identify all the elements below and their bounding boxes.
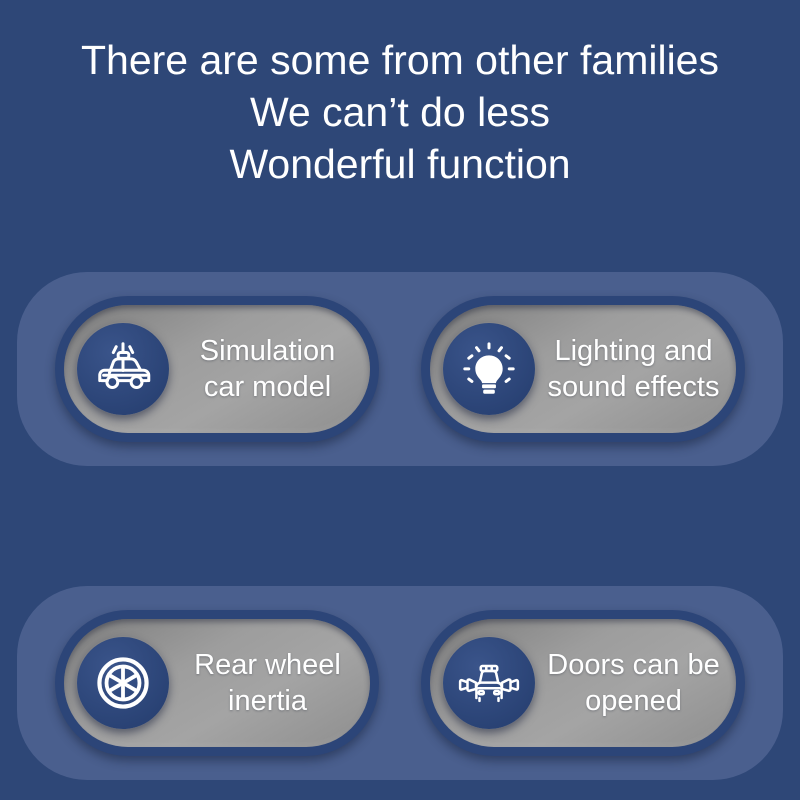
car-doors-open-icon [443, 637, 535, 729]
feature-row-top: Simulation car model [17, 272, 783, 466]
page-title: There are some from other families We ca… [0, 34, 800, 190]
wheel-tire-icon [77, 637, 169, 729]
feature-card-doors-can-be-opened[interactable]: Doors can be opened [421, 610, 745, 756]
feature-card-label: Simulation car model [169, 333, 370, 405]
police-car-icon [77, 323, 169, 415]
product-feature-poster: There are some from other families We ca… [0, 0, 800, 800]
feature-card-rear-wheel-inertia[interactable]: Rear wheel inertia [55, 610, 379, 756]
feature-card-label: Rear wheel inertia [169, 647, 370, 719]
feature-card-label: Doors can be opened [535, 647, 736, 719]
feature-card-simulation-car-model[interactable]: Simulation car model [55, 296, 379, 442]
page-title-line-3: Wonderful function [0, 138, 800, 190]
page-title-line-1: There are some from other families [0, 34, 800, 86]
feature-row-bottom: Rear wheel inertia [17, 586, 783, 780]
page-title-line-2: We can’t do less [0, 86, 800, 138]
lightbulb-icon [443, 323, 535, 415]
feature-card-lighting-sound-effects[interactable]: Lighting and sound effects [421, 296, 745, 442]
feature-card-label: Lighting and sound effects [535, 333, 736, 405]
